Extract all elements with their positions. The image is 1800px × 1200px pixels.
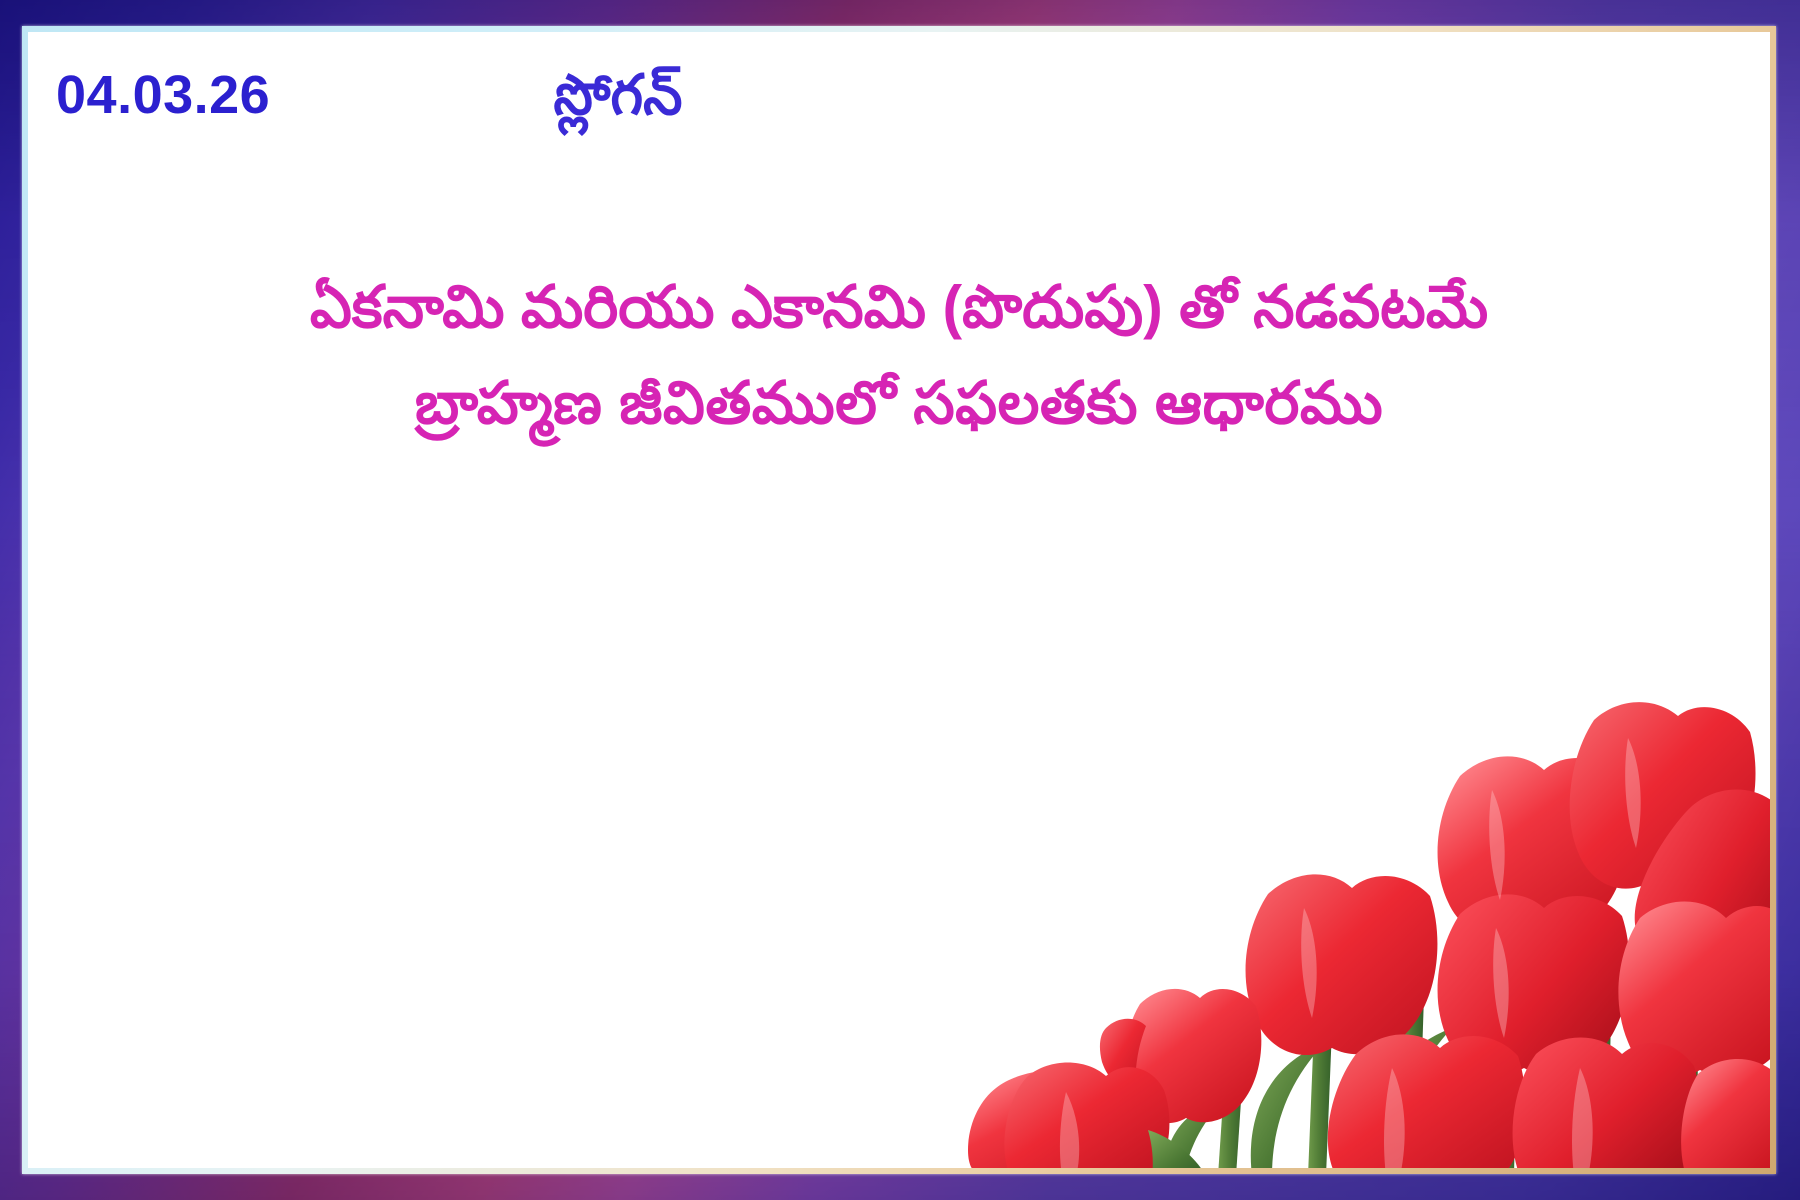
slogan-line-1: ఏకనామి మరియు ఎకానమి (పొదుపు) తో నడవటమే (46, 260, 1752, 356)
card-page: 04.03.26 స్లోగన్ ఏకనామి మరియు ఎకానమి (పొ… (28, 32, 1770, 1168)
card-header: 04.03.26 స్లోగన్ (28, 68, 1770, 152)
red-tulips-image (900, 656, 1770, 1168)
slogan-text-block: ఏకనామి మరియు ఎకానమి (పొదుపు) తో నడవటమే బ… (28, 260, 1770, 451)
page-title: స్లోగన్ (28, 60, 1208, 130)
slogan-line-2: బ్రాహ్మణ జీవితములో సఫలతకు ఆధారము (46, 356, 1752, 452)
slogan-card: 04.03.26 స్లోగన్ ఏకనామి మరియు ఎకానమి (పొ… (0, 0, 1800, 1200)
